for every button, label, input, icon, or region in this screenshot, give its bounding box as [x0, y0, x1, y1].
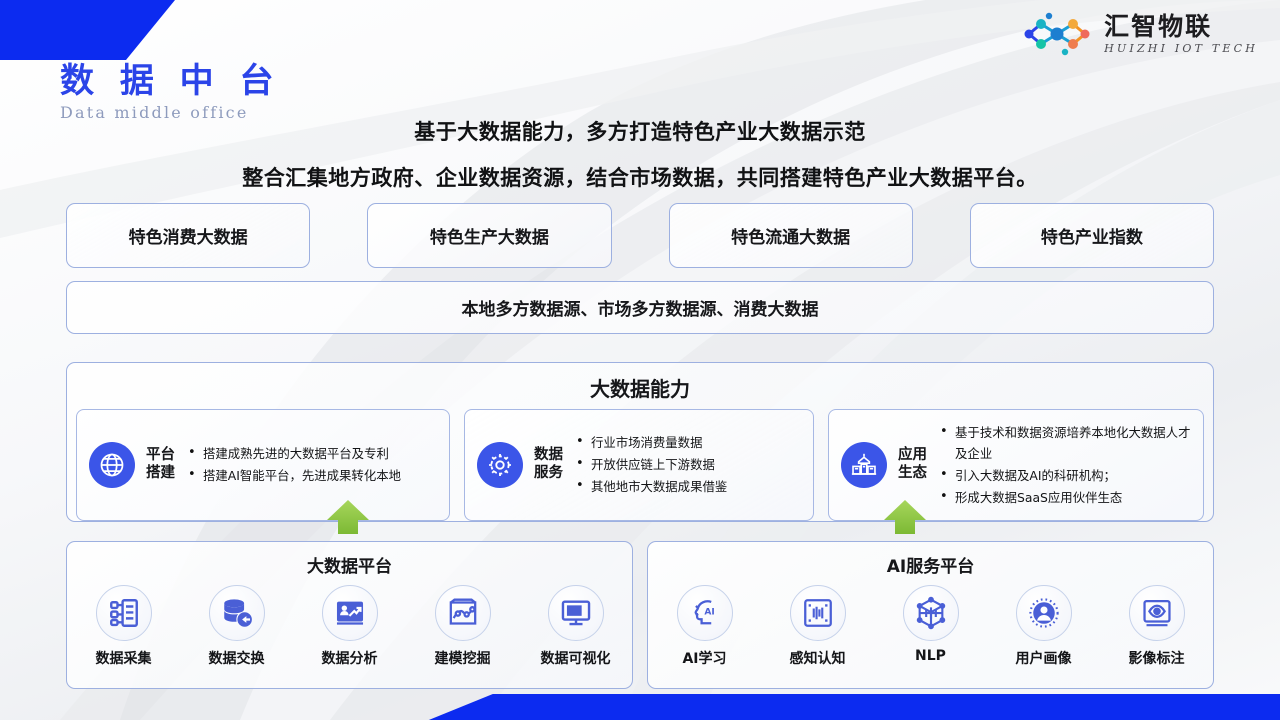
pillar-box-circulation[interactable]: 特色流通大数据 — [669, 203, 913, 268]
ai-item-image-annotation[interactable]: 影像标注 — [1103, 585, 1211, 668]
model-mining-icon — [435, 585, 491, 641]
capability-bullets-data-service: 行业市场消费量数据 开放供应链上下游数据 其他地市大数据成果借鉴 — [576, 432, 805, 497]
title-chinese: 数 据 中 台 — [60, 62, 281, 101]
brand-bar-bottom — [0, 694, 1280, 720]
user-profile-icon — [1016, 585, 1072, 641]
platform-item-label: 数据交换 — [209, 648, 265, 668]
platform-item-label: 数据采集 — [96, 648, 152, 668]
list-collect-icon — [96, 585, 152, 641]
label-line-2: 搭建 — [146, 465, 176, 483]
pillar-row: 特色消费大数据 特色生产大数据 特色流通大数据 特色产业指数 — [66, 203, 1214, 268]
platform-item-data-analysis[interactable]: 数据分析 — [296, 585, 404, 668]
platform-item-data-visualization[interactable]: 数据可视化 — [522, 585, 630, 668]
monitor-visual-icon — [548, 585, 604, 641]
panel-ai-service-platform: AI服务平台 AI AI学习 — [647, 541, 1214, 689]
ai-item-label: 用户画像 — [1016, 648, 1072, 668]
label-line-1: 数据 — [534, 447, 564, 465]
platform-item-label: 建模挖掘 — [435, 648, 491, 668]
headline-group: 基于大数据能力，多方打造特色产业大数据示范 整合汇集地方政府、企业数据资源，结合… — [0, 116, 1280, 192]
platform-panels-row: 大数据平台 数据采集 — [66, 541, 1214, 689]
neural-network-icon — [903, 585, 959, 641]
molecule-network-icon — [1019, 12, 1095, 56]
brand-corner-top-left — [0, 0, 175, 60]
ai-head-icon: AI — [677, 585, 733, 641]
capability-card-label-platform: 平台 搭建 — [146, 447, 176, 482]
platform-item-label: 数据可视化 — [541, 648, 611, 668]
headline-secondary: 整合汇集地方政府、企业数据资源，结合市场数据，共同搭建特色产业大数据平台。 — [0, 162, 1280, 192]
slide-canvas: 数 据 中 台 Data middle office — [0, 0, 1280, 720]
bullet-item: 行业市场消费量数据 — [576, 432, 805, 454]
panel-big-data-platform: 大数据平台 数据采集 — [66, 541, 633, 689]
ai-item-label: NLP — [915, 648, 946, 664]
capability-card-data-service[interactable]: 数据 服务 行业市场消费量数据 开放供应链上下游数据 其他地市大数据成果借鉴 — [464, 409, 814, 521]
globe-icon — [89, 442, 135, 488]
ai-item-label: AI学习 — [682, 648, 726, 668]
bullet-item: 搭建AI智能平台，先进成果转化本地 — [188, 465, 441, 487]
panel-title-ai-service-platform: AI服务平台 — [648, 552, 1213, 577]
bullet-item: 形成大数据SaaS应用伙伴生态 — [940, 487, 1195, 509]
scan-perception-icon — [790, 585, 846, 641]
big-data-capability-section: 大数据能力 平台 搭建 搭建成熟先进的大数据平台及专利 搭建AI智能 — [66, 362, 1214, 522]
capability-bullets-platform: 搭建成熟先进的大数据平台及专利 搭建AI智能平台，先进成果转化本地 — [188, 443, 441, 486]
ai-item-ai-learning[interactable]: AI AI学习 — [651, 585, 759, 668]
gear-icon — [477, 442, 523, 488]
platform-item-data-collection[interactable]: 数据采集 — [70, 585, 178, 668]
capability-card-platform[interactable]: 平台 搭建 搭建成熟先进的大数据平台及专利 搭建AI智能平台，先进成果转化本地 — [76, 409, 450, 521]
capability-card-label-application-ecosystem: 应用 生态 — [898, 447, 928, 482]
platform-item-data-exchange[interactable]: 数据交换 — [183, 585, 291, 668]
label-line-1: 平台 — [146, 447, 176, 465]
up-arrow-right — [884, 500, 926, 534]
label-line-1: 应用 — [898, 447, 928, 465]
logo-name-en: HUIZHI IOT TECH — [1104, 42, 1258, 55]
pillar-box-consumption[interactable]: 特色消费大数据 — [66, 203, 310, 268]
svg-text:AI: AI — [704, 608, 714, 618]
ai-item-label: 感知认知 — [790, 648, 846, 668]
pillar-box-production[interactable]: 特色生产大数据 — [367, 203, 611, 268]
platform-item-modeling-mining[interactable]: 建模挖掘 — [409, 585, 517, 668]
page-title: 数 据 中 台 Data middle office — [60, 62, 281, 122]
image-annotation-icon — [1129, 585, 1185, 641]
database-exchange-icon — [209, 585, 265, 641]
ai-item-nlp[interactable]: NLP — [877, 585, 985, 668]
label-line-2: 生态 — [898, 465, 928, 483]
pillar-box-industry-index[interactable]: 特色产业指数 — [970, 203, 1214, 268]
bullet-item: 开放供应链上下游数据 — [576, 454, 805, 476]
analytics-chart-icon — [322, 585, 378, 641]
bullet-item: 搭建成熟先进的大数据平台及专利 — [188, 443, 441, 465]
headline-primary: 基于大数据能力，多方打造特色产业大数据示范 — [0, 116, 1280, 146]
logo-name-cn: 汇智物联 — [1104, 13, 1212, 41]
building-icon — [841, 442, 887, 488]
ai-item-label: 影像标注 — [1129, 648, 1185, 668]
panel-title-big-data-platform: 大数据平台 — [67, 552, 632, 577]
up-arrow-left — [327, 500, 369, 534]
bullet-item: 基于技术和数据资源培养本地化大数据人才及企业 — [940, 422, 1195, 465]
capability-bullets-application-ecosystem: 基于技术和数据资源培养本地化大数据人才及企业 引入大数据及AI的科研机构； 形成… — [940, 422, 1195, 509]
capability-section-title: 大数据能力 — [67, 373, 1213, 402]
company-logo: 汇智物联 HUIZHI IOT TECH — [1019, 12, 1258, 56]
data-sources-bar[interactable]: 本地多方数据源、市场多方数据源、消费大数据 — [66, 281, 1214, 334]
platform-item-label: 数据分析 — [322, 648, 378, 668]
capability-card-label-data-service: 数据 服务 — [534, 447, 564, 482]
bullet-item: 其他地市大数据成果借鉴 — [576, 476, 805, 498]
label-line-2: 服务 — [534, 465, 564, 483]
ai-item-perception-cognition[interactable]: 感知认知 — [764, 585, 872, 668]
ai-item-user-profile[interactable]: 用户画像 — [990, 585, 1098, 668]
bullet-item: 引入大数据及AI的科研机构； — [940, 465, 1195, 487]
